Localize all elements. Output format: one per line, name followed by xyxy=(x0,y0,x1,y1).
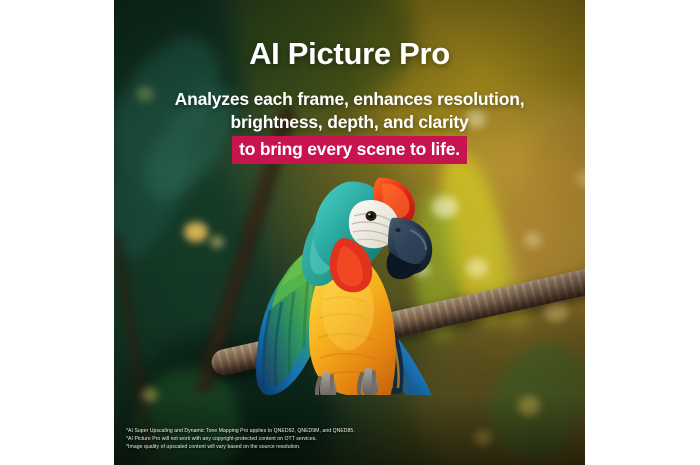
subheadline-line-2: brightness, depth, and clarity xyxy=(230,112,468,132)
ai-picture-pro-banner: AI Picture Pro Analyzes each frame, enha… xyxy=(0,0,700,465)
subheadline: Analyzes each frame, enhances resolution… xyxy=(114,88,585,164)
footnote-3: *Image quality of upscaled content will … xyxy=(126,443,546,451)
footnote-1: *AI Super Upscaling and Dynamic Tone Map… xyxy=(126,427,546,435)
subheadline-line-1: Analyzes each frame, enhances resolution… xyxy=(175,89,525,109)
highlight-line: to bring every scene to life. xyxy=(232,136,467,164)
highlight-line-wrap: to bring every scene to life. xyxy=(114,136,585,164)
footnotes: *AI Super Upscaling and Dynamic Tone Map… xyxy=(126,427,546,452)
footnote-2: *AI Picture Pro will not work with any c… xyxy=(126,435,546,443)
page-title: AI Picture Pro xyxy=(114,36,585,72)
